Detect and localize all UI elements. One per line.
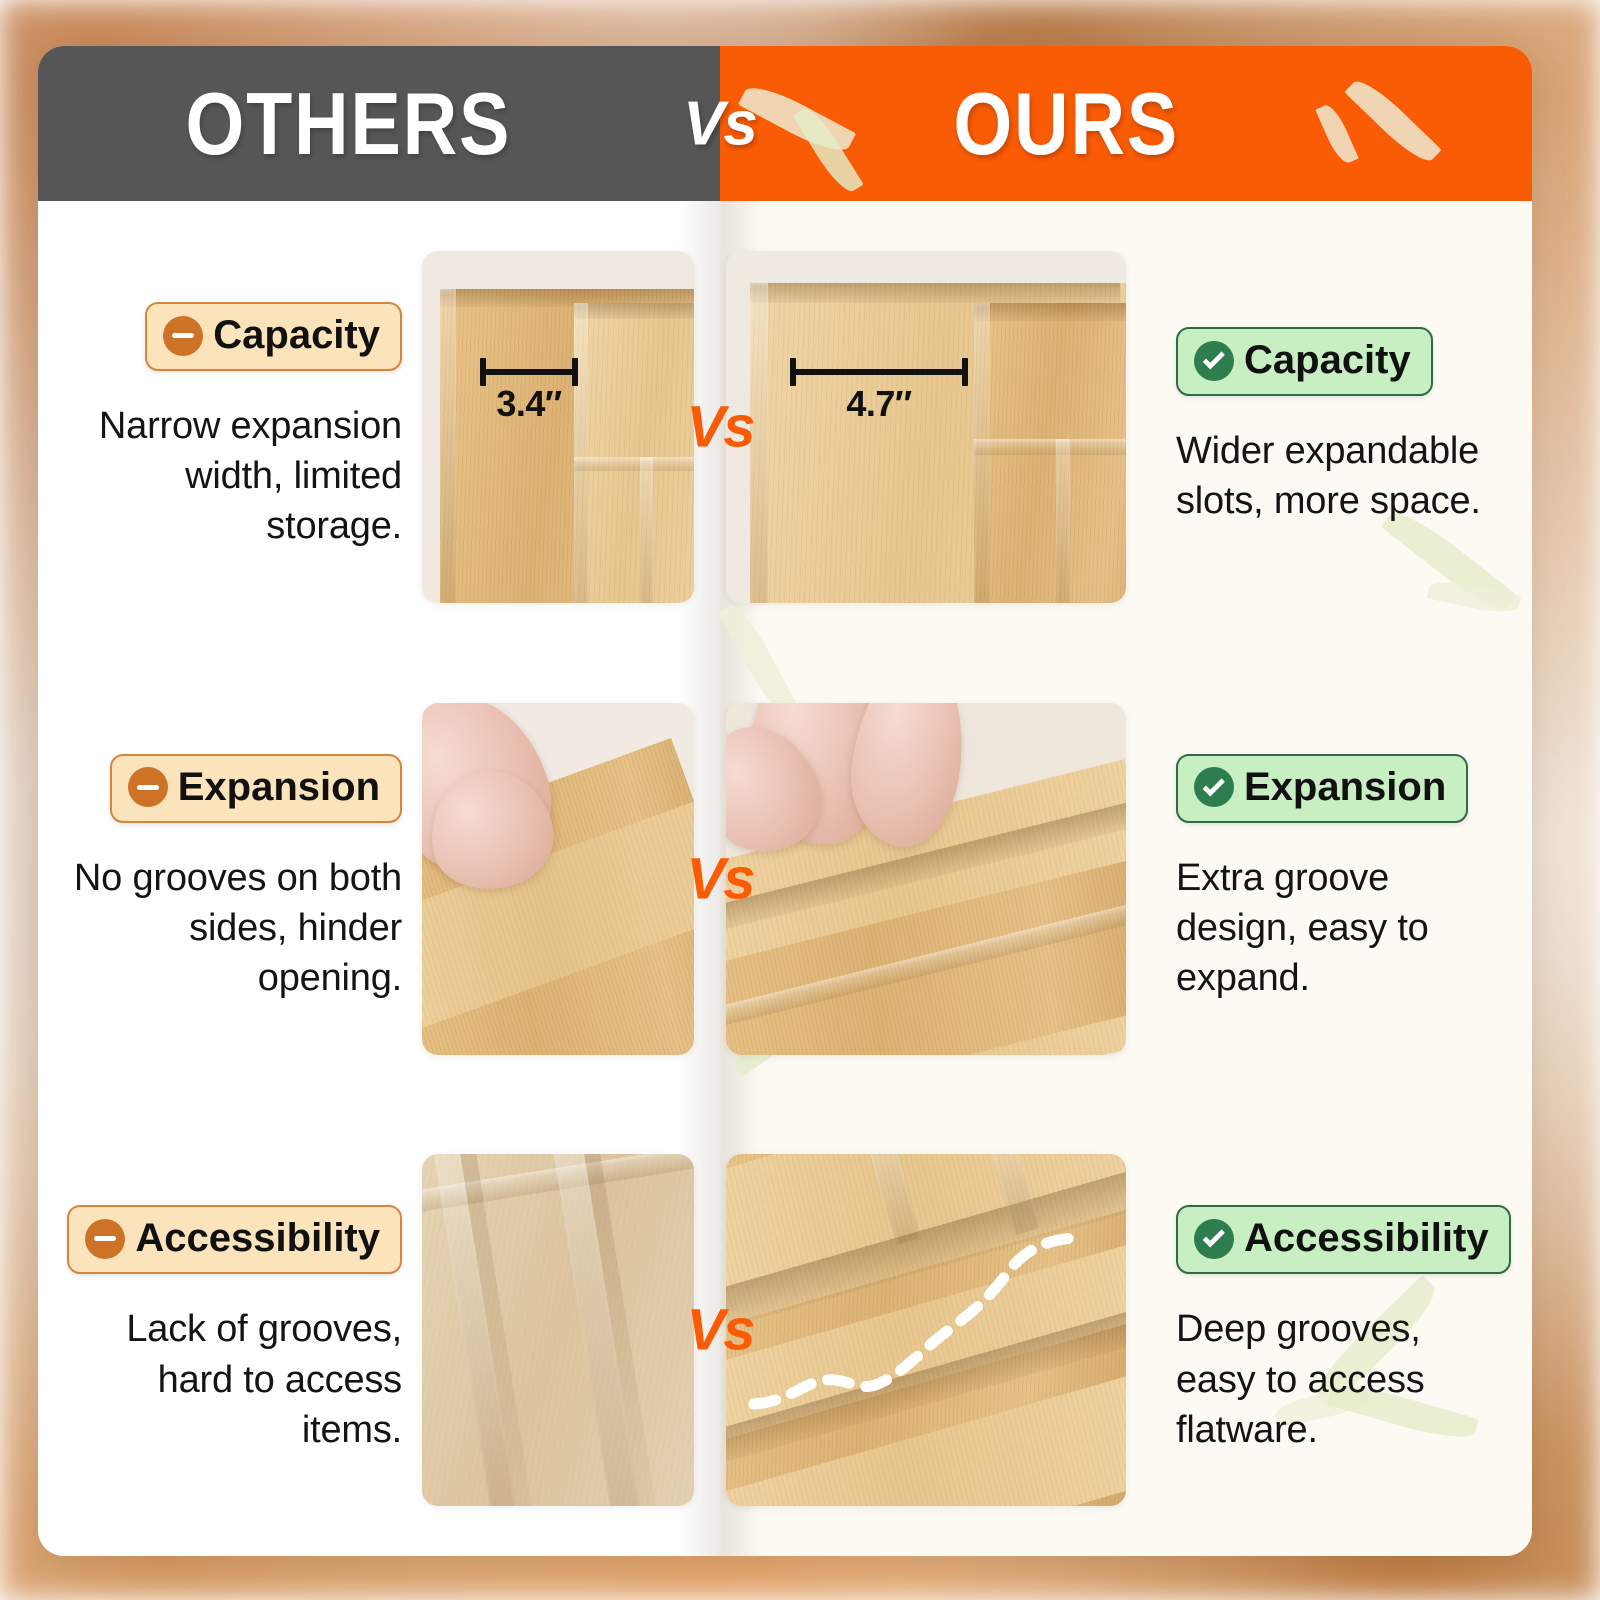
comparison-row-accessibility: Accessibility Lack of grooves, hard to a…	[38, 1104, 1532, 1556]
photo-narrow-organizer: 3.4″	[422, 251, 694, 603]
minus-circle-icon	[85, 1219, 125, 1259]
row-capacity-ours-description: Wider expandable slots, more space.	[1176, 426, 1508, 526]
row-capacity-ours-text: Capacity Wider expandable slots, more sp…	[1162, 327, 1522, 526]
row-accessibility-others-text: Accessibility Lack of grooves, hard to a…	[56, 1205, 416, 1454]
comparison-row-expansion: Expansion No grooves on both sides, hind…	[38, 653, 1532, 1105]
dimension-label: 4.7″	[790, 383, 968, 425]
badge-label: Capacity	[1244, 338, 1411, 383]
row-capacity-ours: 4.7″ Capacity Wider expandable slots, mo…	[720, 201, 1532, 653]
row-accessibility-others: Accessibility Lack of grooves, hard to a…	[38, 1104, 720, 1556]
dimension-annotation-47: 4.7″	[790, 369, 968, 425]
others-header: OTHERS	[38, 46, 720, 201]
row-vs-marker: Vs	[687, 393, 754, 460]
row-vs-marker: Vs	[687, 1297, 754, 1364]
check-circle-icon	[1194, 341, 1234, 381]
badge-label: Accessibility	[135, 1216, 380, 1261]
header-vs-label: Vs	[683, 89, 757, 160]
row-vs-marker: Vs	[687, 845, 754, 912]
row-expansion-others: Expansion No grooves on both sides, hind…	[38, 653, 720, 1105]
check-circle-icon	[1194, 767, 1234, 807]
row-expansion-others-text: Expansion No grooves on both sides, hind…	[56, 754, 416, 1003]
minus-circle-icon	[128, 767, 168, 807]
photo-deep-grooves	[726, 1154, 1126, 1506]
badge-expansion-positive: Expansion	[1176, 754, 1468, 823]
photo-smooth-edge	[422, 703, 694, 1055]
row-accessibility-ours-description: Deep grooves, easy to access flatware.	[1176, 1304, 1508, 1454]
dimension-annotation-34: 3.4″	[480, 369, 578, 425]
row-expansion-others-description: No grooves on both sides, hinder opening…	[70, 853, 402, 1003]
photo-flat-compartments	[422, 1154, 694, 1506]
badge-capacity-positive: Capacity	[1176, 327, 1433, 396]
minus-circle-icon	[163, 316, 203, 356]
badge-expansion-negative: Expansion	[110, 754, 402, 823]
row-expansion-ours-text: Expansion Extra groove design, easy to e…	[1162, 754, 1522, 1003]
check-circle-icon	[1194, 1219, 1234, 1259]
badge-accessibility-positive: Accessibility	[1176, 1205, 1511, 1274]
row-accessibility-ours-text: Accessibility Deep grooves, easy to acce…	[1162, 1205, 1522, 1454]
badge-accessibility-negative: Accessibility	[67, 1205, 402, 1274]
comparison-row-capacity: Capacity Narrow expansion width, limited…	[38, 201, 1532, 653]
badge-label: Expansion	[178, 765, 380, 810]
badge-label: Expansion	[1244, 765, 1446, 810]
photo-grooved-edge	[726, 703, 1126, 1055]
comparison-card: OTHERS OURS Vs Capacity Narrow expansion…	[38, 46, 1532, 1556]
comparison-rows: Capacity Narrow expansion width, limited…	[38, 201, 1532, 1556]
others-title: OTHERS	[185, 73, 511, 175]
ours-title: OURS	[953, 73, 1179, 175]
dimension-label: 3.4″	[480, 383, 578, 425]
row-capacity-others: Capacity Narrow expansion width, limited…	[38, 201, 720, 653]
badge-label: Capacity	[213, 313, 380, 358]
row-expansion-ours-description: Extra groove design, easy to expand.	[1176, 853, 1508, 1003]
row-accessibility-ours: Accessibility Deep grooves, easy to acce…	[720, 1104, 1532, 1556]
row-capacity-others-description: Narrow expansion width, limited storage.	[70, 401, 402, 551]
row-expansion-ours: Expansion Extra groove design, easy to e…	[720, 653, 1532, 1105]
photo-wide-organizer: 4.7″	[726, 251, 1126, 603]
ours-header: OURS	[720, 46, 1532, 201]
badge-label: Accessibility	[1244, 1216, 1489, 1261]
row-accessibility-others-description: Lack of grooves, hard to access items.	[70, 1304, 402, 1454]
row-capacity-others-text: Capacity Narrow expansion width, limited…	[56, 302, 416, 551]
header-band: OTHERS OURS	[38, 46, 1532, 201]
badge-capacity-negative: Capacity	[145, 302, 402, 371]
